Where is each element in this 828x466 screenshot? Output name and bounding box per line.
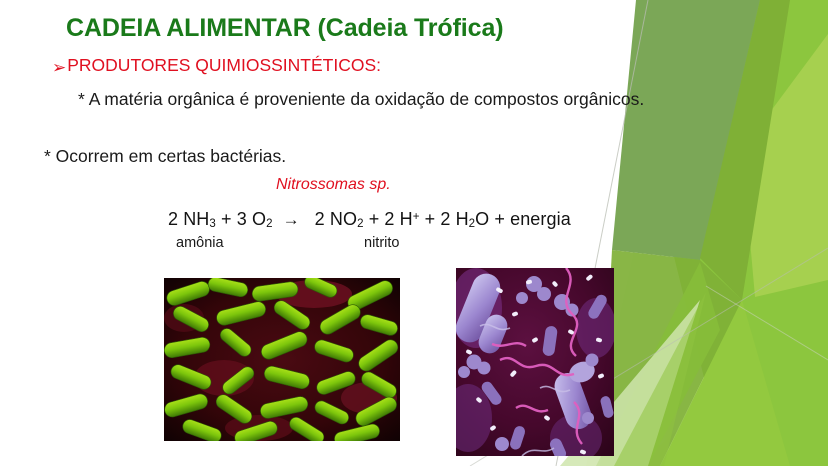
slide-canvas: CADEIA ALIMENTAR (Cadeia Trófica) ➢ PROD…: [0, 0, 828, 466]
species-name: Nitrossomas sp.: [276, 176, 391, 194]
purple-bacteria-micrograph: [456, 268, 614, 456]
equation-reactants: 2 NH3 + 3 O2: [168, 209, 273, 229]
body-paragraph-1-text: * A matéria orgânica é proveniente da ox…: [78, 89, 644, 109]
chemical-equation: 2 NH3 + 3 O2→2 NO2 + 2 H+ + 2 H2O + ener…: [168, 209, 571, 230]
bullet-heading-label: PRODUTORES QUIMIOSSINTÉTICOS:: [67, 56, 381, 75]
equation-label-reactant: amônia: [176, 235, 224, 251]
bullet-heading: ➢ PRODUTORES QUIMIOSSINTÉTICOS:: [52, 56, 381, 76]
equation-arrow-icon: →: [273, 210, 310, 230]
body-paragraph-2-text: * Ocorrem em certas bactérias.: [44, 146, 286, 166]
page-title: CADEIA ALIMENTAR (Cadeia Trófica): [66, 14, 503, 43]
equation-products: 2 NO2 + 2 H+ + 2 H2O + energia: [315, 209, 571, 229]
arrow-bullet-icon: ➢: [52, 59, 66, 76]
green-bacteria-micrograph: [164, 278, 400, 441]
equation-label-product: nitrito: [364, 235, 399, 251]
body-paragraph-2: * Ocorrem em certas bactérias.: [44, 143, 714, 170]
body-paragraph-1: * A matéria orgânica é proveniente da ox…: [44, 86, 714, 113]
